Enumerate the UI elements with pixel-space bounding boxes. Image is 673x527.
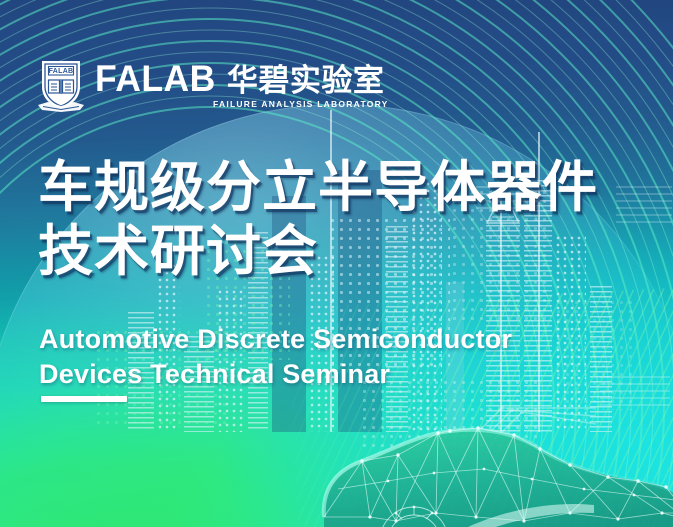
subtitle-line-1: Automotive Discrete Semiconductor: [39, 322, 512, 357]
title-line-1: 车规级分立半导体器件: [38, 156, 598, 220]
divider-rule: [41, 396, 127, 402]
falab-logo[interactable]: FALAB FALAB 华碧实验室 FAILURE ANALYSIS LABOR…: [36, 57, 389, 113]
shield-icon: FALAB: [36, 57, 86, 113]
page-subtitle: Automotive Discrete Semiconductor Device…: [39, 322, 512, 391]
subtitle-line-2: Devices Technical Seminar: [39, 357, 512, 392]
wireframe-car: [318, 409, 673, 527]
page-title: 车规级分立半导体器件 技术研讨会: [38, 156, 598, 284]
falab-wordmark: FALAB 华碧实验室 FAILURE ANALYSIS LABORATORY: [95, 61, 389, 109]
svg-text:FALAB: FALAB: [49, 68, 74, 75]
wordmark-tagline: FAILURE ANALYSIS LABORATORY: [213, 99, 389, 109]
wordmark-english: FALAB: [95, 61, 216, 96]
title-line-2: 技术研讨会: [38, 220, 598, 284]
bar-pattern: [616, 186, 672, 226]
wordmark-chinese: 华碧实验室: [227, 66, 385, 97]
seminar-poster: FALAB FALAB 华碧实验室 FAILURE ANALYSIS LABOR…: [0, 0, 673, 527]
